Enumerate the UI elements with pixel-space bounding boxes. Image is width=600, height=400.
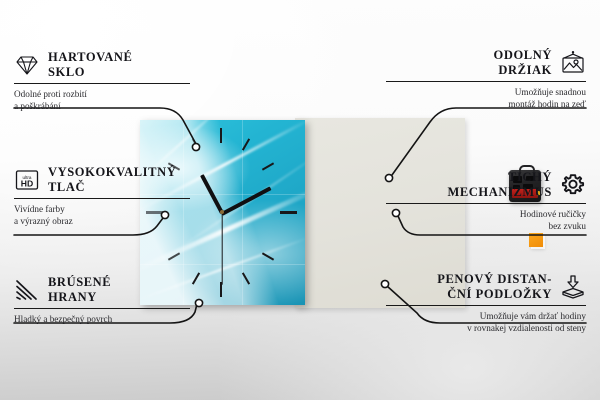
feature-foam-spacers: PENOVÝ DISTAN- ČNÍ PODLOŽKY Umožňuje vám… xyxy=(386,272,586,334)
feature-header: ODOLNÝ DRŽIAK xyxy=(386,48,586,78)
divider xyxy=(14,198,190,199)
divider xyxy=(386,203,586,204)
feature-header: TICHÝ MECHANIZMUS xyxy=(386,170,586,200)
connector-endpoint xyxy=(192,143,199,150)
feature-wall-holder: ODOLNÝ DRŽIAK Umožňuje snadnou montáž ho… xyxy=(386,48,586,110)
feature-title: TICHÝ MECHANIZMUS xyxy=(447,170,552,200)
feature-description: Hodinové ručičky bez zvuku xyxy=(386,208,586,232)
feature-description: Hladký a bezpečný povrch xyxy=(14,313,214,325)
svg-text:HD: HD xyxy=(21,179,33,189)
feature-description: Umožňuje vám držať hodiny v rovnakej vzd… xyxy=(386,310,586,334)
divider xyxy=(386,305,586,306)
gear-icon xyxy=(560,172,586,198)
feature-header: ultra HD VYSOKOKVALITNÝ TLAČ xyxy=(14,165,214,195)
divider xyxy=(14,83,190,84)
feature-title: VYSOKOKVALITNÝ TLAČ xyxy=(48,165,176,195)
feature-header: HARTOVANÉ SKLO xyxy=(14,50,214,80)
feature-title: HARTOVANÉ SKLO xyxy=(48,50,132,80)
divider xyxy=(386,81,586,82)
diamond-icon xyxy=(14,52,40,78)
feature-silent-mechanism: TICHÝ MECHANIZMUS Hodinové ručičky bez z… xyxy=(386,170,586,232)
feature-print-quality: ultra HD VYSOKOKVALITNÝ TLAČ Vivídne far… xyxy=(14,165,214,227)
foam-spacer-icon xyxy=(560,274,586,300)
divider xyxy=(14,308,190,309)
beveled-edges-icon xyxy=(14,277,40,303)
feature-header: PENOVÝ DISTAN- ČNÍ PODLOŽKY xyxy=(386,272,586,302)
feature-description: Odolné proti rozbití a poškrábání xyxy=(14,88,214,112)
feature-tempered-glass: HARTOVANÉ SKLO Odolné proti rozbití a po… xyxy=(14,50,214,112)
feature-description: Umožňuje snadnou montáž hodin na zeď xyxy=(386,86,586,110)
feature-title: BRÚSENÉ HRANY xyxy=(48,275,111,305)
feature-description: Vivídne farby a výrazný obraz xyxy=(14,203,214,227)
feature-title: ODOLNÝ DRŽIAK xyxy=(494,48,552,78)
feature-polished-edges: BRÚSENÉ HRANY Hladký a bezpečný povrch xyxy=(14,275,214,325)
infographic-stage: HARTOVANÉ SKLO Odolné proti rozbití a po… xyxy=(0,0,600,400)
feature-title: PENOVÝ DISTAN- ČNÍ PODLOŽKY xyxy=(437,272,552,302)
feature-header: BRÚSENÉ HRANY xyxy=(14,275,214,305)
picture-hanger-icon xyxy=(560,50,586,76)
ultra-hd-icon: ultra HD xyxy=(14,167,40,193)
